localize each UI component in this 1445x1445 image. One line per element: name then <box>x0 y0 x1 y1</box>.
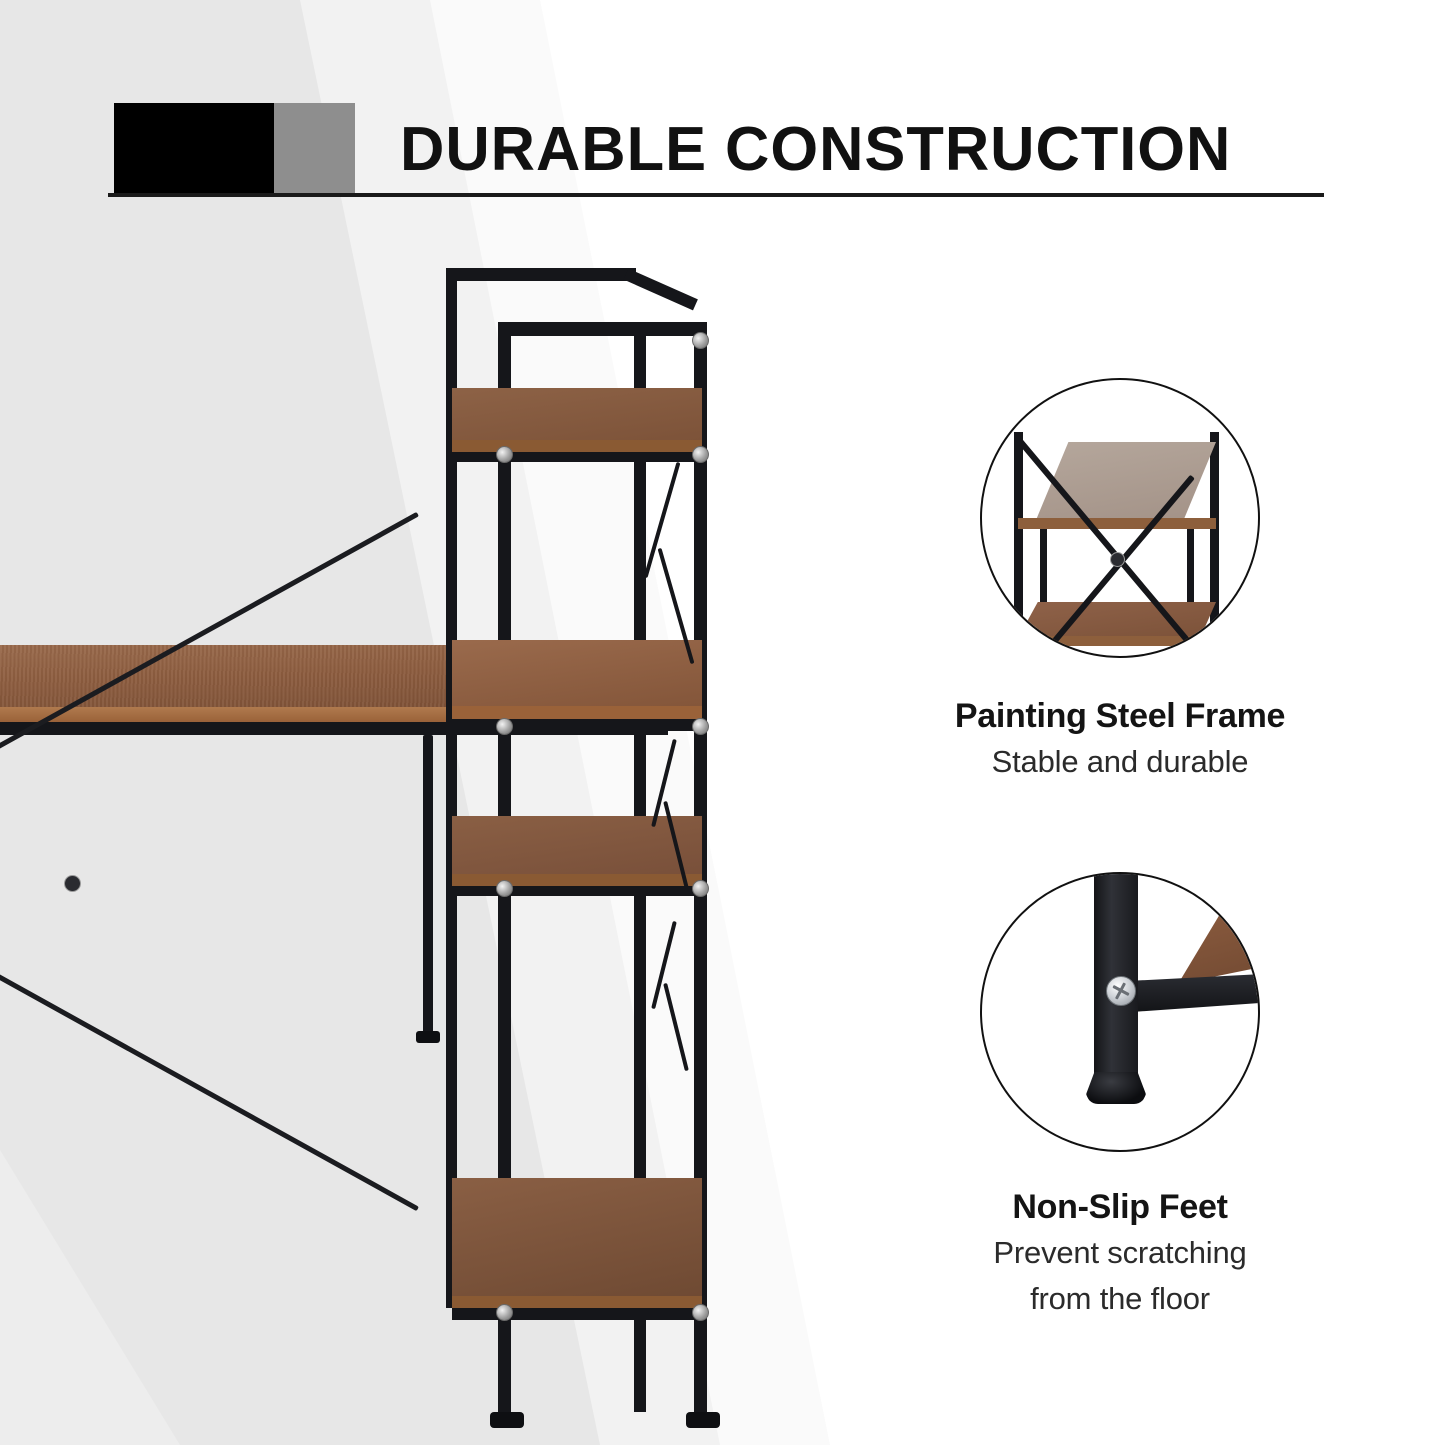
screw <box>496 1304 513 1321</box>
desk-leg-foot <box>416 1031 440 1043</box>
shelf-4-surface <box>452 1178 702 1296</box>
screw <box>692 332 709 349</box>
tower-foot-left <box>490 1412 524 1428</box>
icon-mid-shelf <box>1018 602 1216 638</box>
shelf-2-edge <box>452 706 702 719</box>
screw <box>692 880 709 897</box>
header-swatch-black <box>114 103 274 194</box>
icon-post-right <box>1210 432 1219 658</box>
header-swatch-grey <box>274 103 355 194</box>
screw <box>496 446 513 463</box>
header-divider <box>108 193 1324 197</box>
screw <box>692 446 709 463</box>
screw <box>692 1304 709 1321</box>
shelf-3-surface <box>452 816 702 874</box>
side-zigzag-brace-3 <box>651 739 677 827</box>
shelf-1-rail <box>452 452 702 462</box>
feature-title: Non-Slip Feet <box>860 1184 1380 1230</box>
shelf-2-rail <box>452 719 702 731</box>
non-slip-foot-icon <box>980 872 1260 1152</box>
tower-foot-right <box>686 1412 720 1428</box>
side-zigzag-brace-5 <box>651 921 677 1009</box>
screw <box>496 718 513 735</box>
infographic-canvas: DURABLE CONSTRUCTION <box>0 0 1445 1445</box>
tower-front-top-rail <box>498 322 700 336</box>
shelf-4-edge <box>452 1296 702 1308</box>
feature-title: Painting Steel Frame <box>860 693 1380 739</box>
icon-screw <box>1106 976 1136 1006</box>
desk-leg <box>423 735 433 1035</box>
side-zigzag-brace-6 <box>663 983 689 1071</box>
screw <box>496 880 513 897</box>
shelf-1-edge <box>452 440 702 452</box>
shelf-tower <box>438 260 738 1440</box>
icon-x-brace-hub <box>1110 552 1125 567</box>
feature-block-steel-frame: Painting Steel Frame Stable and durable <box>860 378 1380 785</box>
screw <box>692 718 709 735</box>
shelf-4-rail <box>452 1308 702 1320</box>
feature-subtitle-line: Stable and durable <box>860 739 1380 785</box>
icon-top-shelf-edge <box>1018 518 1216 529</box>
icon-leg-post <box>1094 872 1138 1079</box>
icon-cross-rail <box>1132 972 1260 1012</box>
steel-frame-x-brace-icon <box>980 378 1260 658</box>
header: DURABLE CONSTRUCTION <box>0 0 1445 210</box>
feature-subtitle-line: Prevent scratching <box>860 1230 1380 1276</box>
shelf-3-edge <box>452 874 702 886</box>
shelf-2-surface <box>452 640 702 706</box>
shelf-3-rail <box>452 886 702 896</box>
desk-x-brace <box>0 735 448 1015</box>
product-photo-desk <box>0 250 778 1445</box>
tower-back-top-rail <box>446 268 636 281</box>
brace-center-hub <box>64 875 81 892</box>
feature-block-non-slip-feet: Non-Slip Feet Prevent scratching from th… <box>860 872 1380 1322</box>
page-title: DURABLE CONSTRUCTION <box>400 104 1231 196</box>
icon-shelf-wood-corner <box>1178 904 1260 984</box>
icon-rubber-foot-pad <box>1086 1072 1146 1104</box>
feature-subtitle-line: from the floor <box>860 1276 1380 1322</box>
icon-post-left <box>1014 432 1023 658</box>
tower-back-diagonal <box>624 269 698 311</box>
brace-diagonal-2 <box>0 935 419 1211</box>
shelf-1-surface <box>452 388 702 440</box>
